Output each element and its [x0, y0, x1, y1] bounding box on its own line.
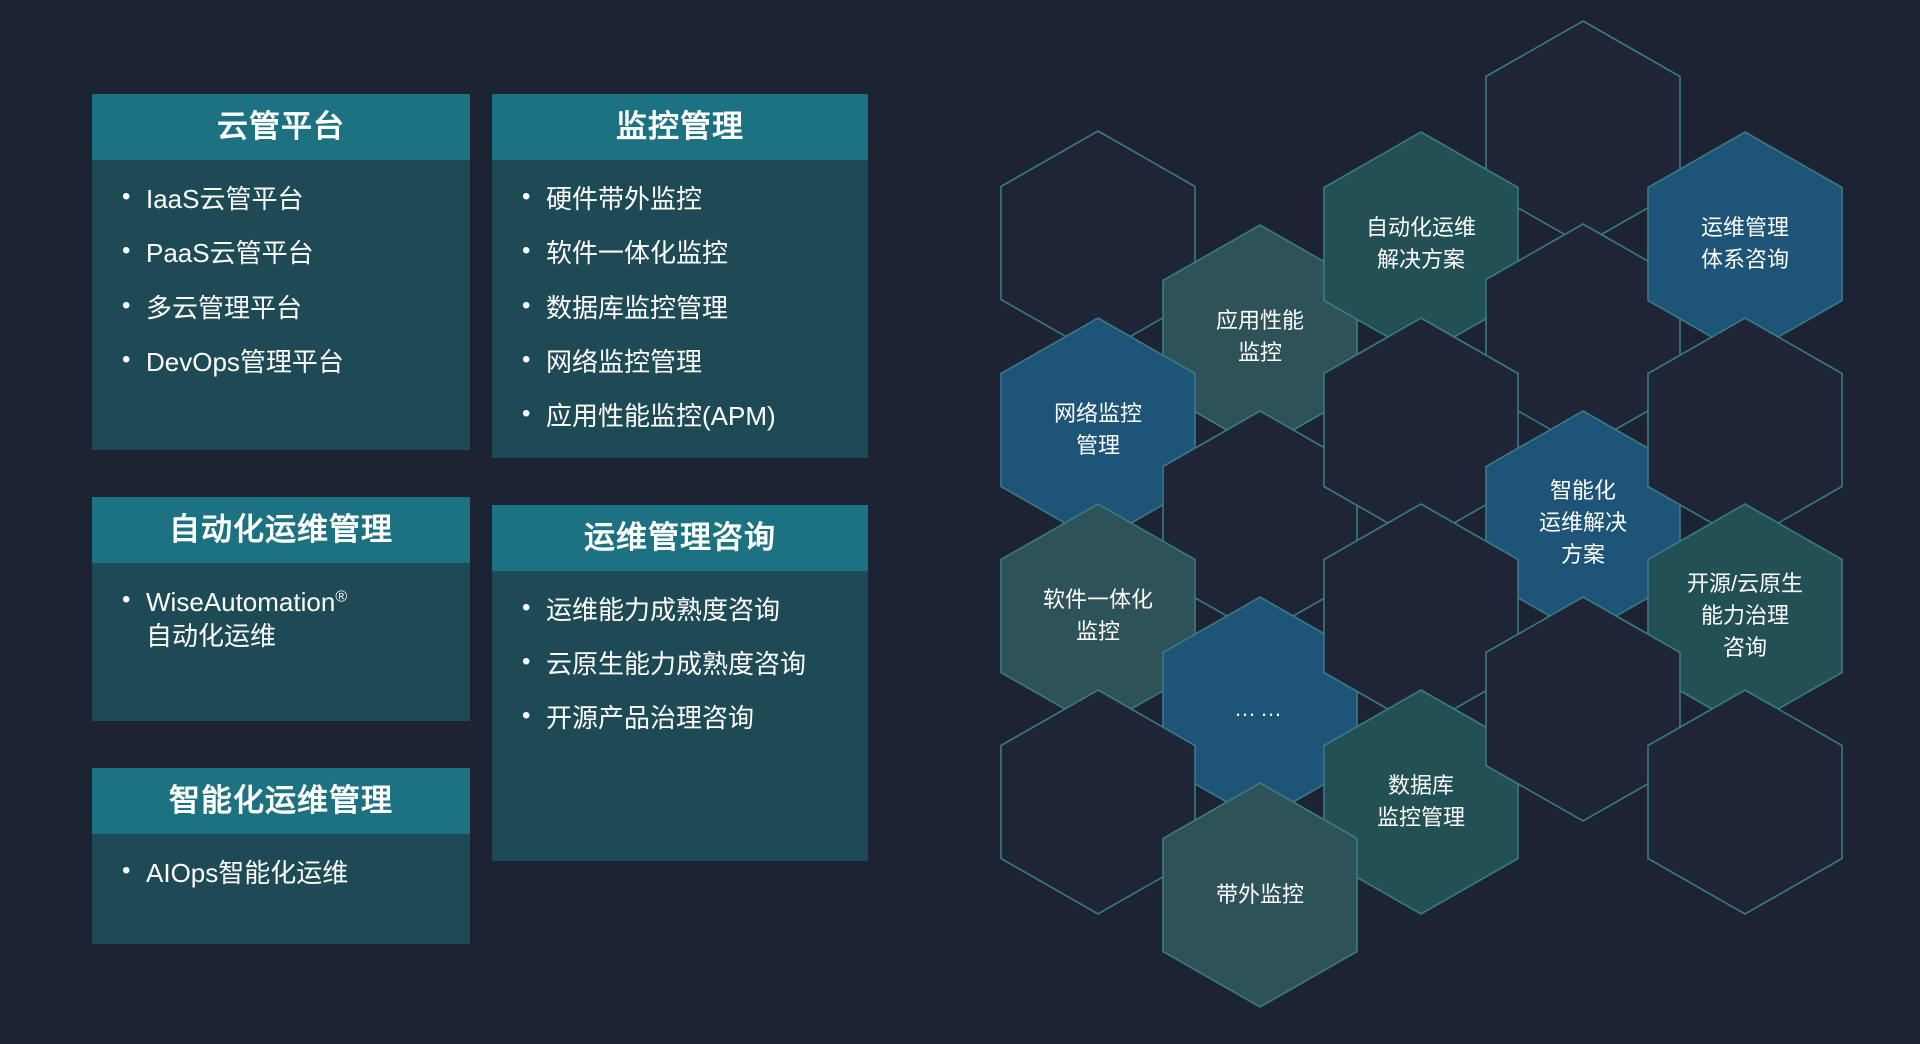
- hexagon-shape: [1647, 689, 1843, 915]
- card-monitoring-management: 监控管理 硬件带外监控 软件一体化监控 数据库监控管理 网络监控管理 应用性能监…: [492, 94, 868, 458]
- list-item: 开源产品治理咨询: [516, 701, 848, 735]
- list-item: 多云管理平台: [116, 291, 450, 325]
- hexagon-grid: 应用性能监控自动化运维解决方案运维管理体系咨询网络监控管理智能化运维解决方案软件…: [940, 0, 1920, 1044]
- card-aiops: 智能化运维管理 AIOps智能化运维: [92, 768, 470, 944]
- list-item: 软件一体化监控: [516, 236, 848, 270]
- list-item-main: WiseAutomation: [146, 587, 335, 617]
- list-item: IaaS云管平台: [116, 182, 450, 216]
- list-item: 运维能力成熟度咨询: [516, 593, 848, 627]
- hex-empty-10: [1647, 689, 1843, 915]
- left-column-1: 云管平台 IaaS云管平台 PaaS云管平台 多云管理平台 DevOps管理平台…: [92, 94, 470, 944]
- card-cloud-platform: 云管平台 IaaS云管平台 PaaS云管平台 多云管理平台 DevOps管理平台: [92, 94, 470, 450]
- card-body-cloud-platform: IaaS云管平台 PaaS云管平台 多云管理平台 DevOps管理平台: [92, 160, 470, 450]
- list-item: WiseAutomation®自动化运维: [116, 585, 450, 654]
- diagram-canvas: 云管平台 IaaS云管平台 PaaS云管平台 多云管理平台 DevOps管理平台…: [0, 0, 1920, 1044]
- list-item: 硬件带外监控: [516, 182, 848, 216]
- card-ops-consulting: 运维管理咨询 运维能力成熟度咨询 云原生能力成熟度咨询 开源产品治理咨询: [492, 505, 868, 861]
- list-item: 数据库监控管理: [516, 291, 848, 325]
- registered-mark: ®: [335, 588, 347, 605]
- card-body-ops-consulting: 运维能力成熟度咨询 云原生能力成熟度咨询 开源产品治理咨询: [492, 571, 868, 861]
- card-body-automation-ops: WiseAutomation®自动化运维: [92, 563, 470, 721]
- list-item: AIOps智能化运维: [116, 856, 450, 890]
- card-title-cloud-platform: 云管平台: [92, 94, 470, 160]
- left-column-2: 监控管理 硬件带外监控 软件一体化监控 数据库监控管理 网络监控管理 应用性能监…: [492, 94, 868, 861]
- hex-oob[interactable]: 带外监控: [1162, 782, 1358, 1008]
- list-item: DevOps管理平台: [116, 345, 450, 379]
- list-item: 网络监控管理: [516, 345, 848, 379]
- card-title-automation-ops: 自动化运维管理: [92, 497, 470, 563]
- card-title-monitoring-management: 监控管理: [492, 94, 868, 160]
- card-title-aiops: 智能化运维管理: [92, 768, 470, 834]
- hexagon-shape: [1162, 782, 1358, 1008]
- list-item: 云原生能力成熟度咨询: [516, 647, 848, 681]
- card-body-aiops: AIOps智能化运维: [92, 834, 470, 944]
- card-body-monitoring-management: 硬件带外监控 软件一体化监控 数据库监控管理 网络监控管理 应用性能监控(APM…: [492, 160, 868, 458]
- card-automation-ops: 自动化运维管理 WiseAutomation®自动化运维: [92, 497, 470, 721]
- list-item: 应用性能监控(APM): [516, 399, 848, 433]
- list-item: PaaS云管平台: [116, 236, 450, 270]
- list-item-second-line: 自动化运维: [146, 621, 276, 651]
- card-title-ops-consulting: 运维管理咨询: [492, 505, 868, 571]
